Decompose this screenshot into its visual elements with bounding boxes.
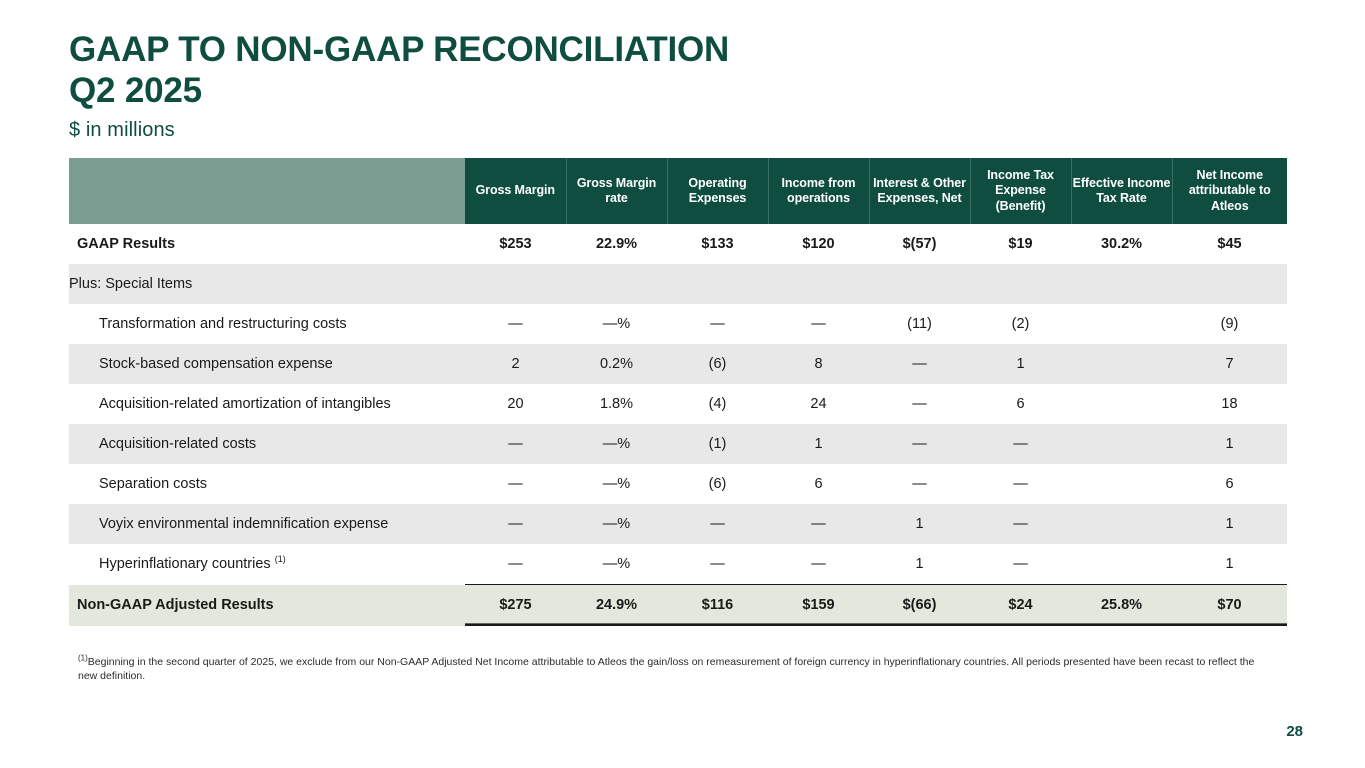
- row-label-text: Voyix environmental indemnification expe…: [99, 516, 388, 532]
- table-row: Acquisition-related costs — —% (1) 1 — —…: [69, 424, 1287, 464]
- table-row: Stock-based compensation expense 2 0.2% …: [69, 344, 1287, 384]
- cell-net-income-attributable-to-atleos: 6: [1172, 464, 1287, 504]
- cell-effective-income-tax-rate: [1071, 424, 1172, 464]
- cell-income-tax-expense-benefit: —: [970, 464, 1071, 504]
- cell-gross-margin-rate: —%: [566, 464, 667, 504]
- cell-gross-margin: $275: [465, 585, 566, 626]
- page-subtitle: $ in millions: [69, 119, 729, 142]
- cell-income-tax-expense-benefit: $24: [970, 585, 1071, 626]
- cell-income-from-operations: 1: [768, 424, 869, 464]
- row-label-text: Stock-based compensation expense: [99, 356, 333, 372]
- row-label-text: Hyperinflationary countries: [99, 556, 271, 572]
- cell-empty: [566, 264, 667, 304]
- table-row-non-gaap-adjusted-results: Non-GAAP Adjusted Results $275 24.9% $11…: [69, 585, 1287, 626]
- cell-interest-other-expenses-net: $(57): [869, 224, 970, 264]
- row-label: Separation costs: [69, 464, 465, 504]
- cell-income-tax-expense-benefit: (2): [970, 304, 1071, 344]
- cell-interest-other-expenses-net: —: [869, 464, 970, 504]
- column-header-label: [69, 158, 465, 224]
- cell-gross-margin-rate: —%: [566, 504, 667, 544]
- column-header-net-income-attributable-to-atleos: Net Income attributable to Atleos: [1172, 158, 1287, 224]
- page-number: 28: [1286, 723, 1303, 740]
- header-row: Gross Margin Gross Margin rate Operating…: [69, 158, 1287, 224]
- cell-gross-margin: —: [465, 464, 566, 504]
- footnote: (1)Beginning in the second quarter of 20…: [78, 655, 1268, 684]
- cell-income-from-operations: 24: [768, 384, 869, 424]
- cell-gross-margin-rate: 22.9%: [566, 224, 667, 264]
- cell-net-income-attributable-to-atleos: 7: [1172, 344, 1287, 384]
- cell-effective-income-tax-rate: 25.8%: [1071, 585, 1172, 626]
- cell-empty: [1172, 264, 1287, 304]
- cell-interest-other-expenses-net: —: [869, 424, 970, 464]
- cell-gross-margin: —: [465, 304, 566, 344]
- cell-gross-margin-rate: 1.8%: [566, 384, 667, 424]
- row-label: Hyperinflationary countries (1): [69, 544, 465, 585]
- cell-gross-margin-rate: —%: [566, 544, 667, 585]
- cell-operating-expenses: —: [667, 504, 768, 544]
- cell-net-income-attributable-to-atleos: 1: [1172, 544, 1287, 585]
- row-label: Stock-based compensation expense: [69, 344, 465, 384]
- cell-effective-income-tax-rate: [1071, 304, 1172, 344]
- table-row: Transformation and restructuring costs —…: [69, 304, 1287, 344]
- cell-effective-income-tax-rate: [1071, 344, 1172, 384]
- cell-income-tax-expense-benefit: 6: [970, 384, 1071, 424]
- cell-effective-income-tax-rate: [1071, 464, 1172, 504]
- row-label-text: Transformation and restructuring costs: [99, 316, 347, 332]
- cell-operating-expenses: (6): [667, 464, 768, 504]
- column-header-effective-income-tax-rate: Effective Income Tax Rate: [1071, 158, 1172, 224]
- row-label: Plus: Special Items: [69, 264, 465, 304]
- footnote-text: Beginning in the second quarter of 2025,…: [78, 656, 1254, 682]
- column-header-income-from-operations: Income from operations: [768, 158, 869, 224]
- cell-net-income-attributable-to-atleos: $70: [1172, 585, 1287, 626]
- cell-income-tax-expense-benefit: 1: [970, 344, 1071, 384]
- cell-income-from-operations: —: [768, 304, 869, 344]
- table-header: Gross Margin Gross Margin rate Operating…: [69, 158, 1287, 224]
- row-label: Acquisition-related costs: [69, 424, 465, 464]
- cell-gross-margin-rate: —%: [566, 304, 667, 344]
- cell-empty: [1071, 264, 1172, 304]
- page-title: GAAP TO NON-GAAP RECONCILIATION Q2 2025: [69, 30, 729, 111]
- slide: GAAP TO NON-GAAP RECONCILIATION Q2 2025 …: [0, 0, 1365, 768]
- cell-gross-margin-rate: 24.9%: [566, 585, 667, 626]
- cell-operating-expenses: $116: [667, 585, 768, 626]
- cell-effective-income-tax-rate: [1071, 504, 1172, 544]
- cell-empty: [768, 264, 869, 304]
- cell-operating-expenses: —: [667, 544, 768, 585]
- cell-effective-income-tax-rate: [1071, 544, 1172, 585]
- row-label: Acquisition-related amortization of inta…: [69, 384, 465, 424]
- row-label: Transformation and restructuring costs: [69, 304, 465, 344]
- table-row-section-special-items: Plus: Special Items: [69, 264, 1287, 304]
- reconciliation-table-container: Gross Margin Gross Margin rate Operating…: [69, 158, 1287, 626]
- cell-empty: [667, 264, 768, 304]
- row-label-text: Acquisition-related costs: [99, 436, 256, 452]
- cell-gross-margin-rate: —%: [566, 424, 667, 464]
- cell-interest-other-expenses-net: 1: [869, 544, 970, 585]
- cell-interest-other-expenses-net: —: [869, 344, 970, 384]
- cell-gross-margin: —: [465, 424, 566, 464]
- table-row: Separation costs — —% (6) 6 — — 6: [69, 464, 1287, 504]
- table-body: GAAP Results $253 22.9% $133 $120 $(57) …: [69, 224, 1287, 626]
- cell-income-from-operations: $159: [768, 585, 869, 626]
- cell-income-tax-expense-benefit: —: [970, 504, 1071, 544]
- cell-income-from-operations: 8: [768, 344, 869, 384]
- cell-empty: [970, 264, 1071, 304]
- table-row-gaap-results: GAAP Results $253 22.9% $133 $120 $(57) …: [69, 224, 1287, 264]
- cell-operating-expenses: (1): [667, 424, 768, 464]
- cell-empty: [465, 264, 566, 304]
- cell-income-from-operations: $120: [768, 224, 869, 264]
- cell-gross-margin: $253: [465, 224, 566, 264]
- cell-income-tax-expense-benefit: $19: [970, 224, 1071, 264]
- row-label: Voyix environmental indemnification expe…: [69, 504, 465, 544]
- cell-interest-other-expenses-net: —: [869, 384, 970, 424]
- cell-net-income-attributable-to-atleos: 18: [1172, 384, 1287, 424]
- table-row: Voyix environmental indemnification expe…: [69, 504, 1287, 544]
- cell-net-income-attributable-to-atleos: $45: [1172, 224, 1287, 264]
- row-label-text: Acquisition-related amortization of inta…: [99, 396, 391, 412]
- cell-income-from-operations: —: [768, 544, 869, 585]
- row-label: GAAP Results: [69, 224, 465, 264]
- cell-gross-margin: 20: [465, 384, 566, 424]
- reconciliation-table: Gross Margin Gross Margin rate Operating…: [69, 158, 1287, 626]
- cell-operating-expenses: (4): [667, 384, 768, 424]
- cell-gross-margin-rate: 0.2%: [566, 344, 667, 384]
- footnote-marker: (1): [78, 654, 88, 663]
- cell-interest-other-expenses-net: (11): [869, 304, 970, 344]
- row-label: Non-GAAP Adjusted Results: [69, 585, 465, 626]
- cell-income-tax-expense-benefit: —: [970, 544, 1071, 585]
- table-row: Acquisition-related amortization of inta…: [69, 384, 1287, 424]
- cell-operating-expenses: (6): [667, 344, 768, 384]
- footnote-marker: (1): [275, 554, 286, 564]
- column-header-income-tax-expense-benefit: Income Tax Expense (Benefit): [970, 158, 1071, 224]
- cell-interest-other-expenses-net: $(66): [869, 585, 970, 626]
- cell-net-income-attributable-to-atleos: 1: [1172, 504, 1287, 544]
- cell-operating-expenses: $133: [667, 224, 768, 264]
- table-row: Hyperinflationary countries (1) — —% — —…: [69, 544, 1287, 585]
- cell-income-tax-expense-benefit: —: [970, 424, 1071, 464]
- cell-net-income-attributable-to-atleos: (9): [1172, 304, 1287, 344]
- cell-income-from-operations: —: [768, 504, 869, 544]
- column-header-operating-expenses: Operating Expenses: [667, 158, 768, 224]
- column-header-gross-margin: Gross Margin: [465, 158, 566, 224]
- cell-income-from-operations: 6: [768, 464, 869, 504]
- cell-effective-income-tax-rate: [1071, 384, 1172, 424]
- column-header-gross-margin-rate: Gross Margin rate: [566, 158, 667, 224]
- column-header-interest-other-expenses-net: Interest & Other Expenses, Net: [869, 158, 970, 224]
- cell-gross-margin: —: [465, 504, 566, 544]
- cell-interest-other-expenses-net: 1: [869, 504, 970, 544]
- cell-operating-expenses: —: [667, 304, 768, 344]
- cell-net-income-attributable-to-atleos: 1: [1172, 424, 1287, 464]
- cell-gross-margin: —: [465, 544, 566, 585]
- cell-effective-income-tax-rate: 30.2%: [1071, 224, 1172, 264]
- cell-empty: [869, 264, 970, 304]
- title-block: GAAP TO NON-GAAP RECONCILIATION Q2 2025 …: [69, 30, 729, 142]
- cell-gross-margin: 2: [465, 344, 566, 384]
- row-label-text: Separation costs: [99, 476, 207, 492]
